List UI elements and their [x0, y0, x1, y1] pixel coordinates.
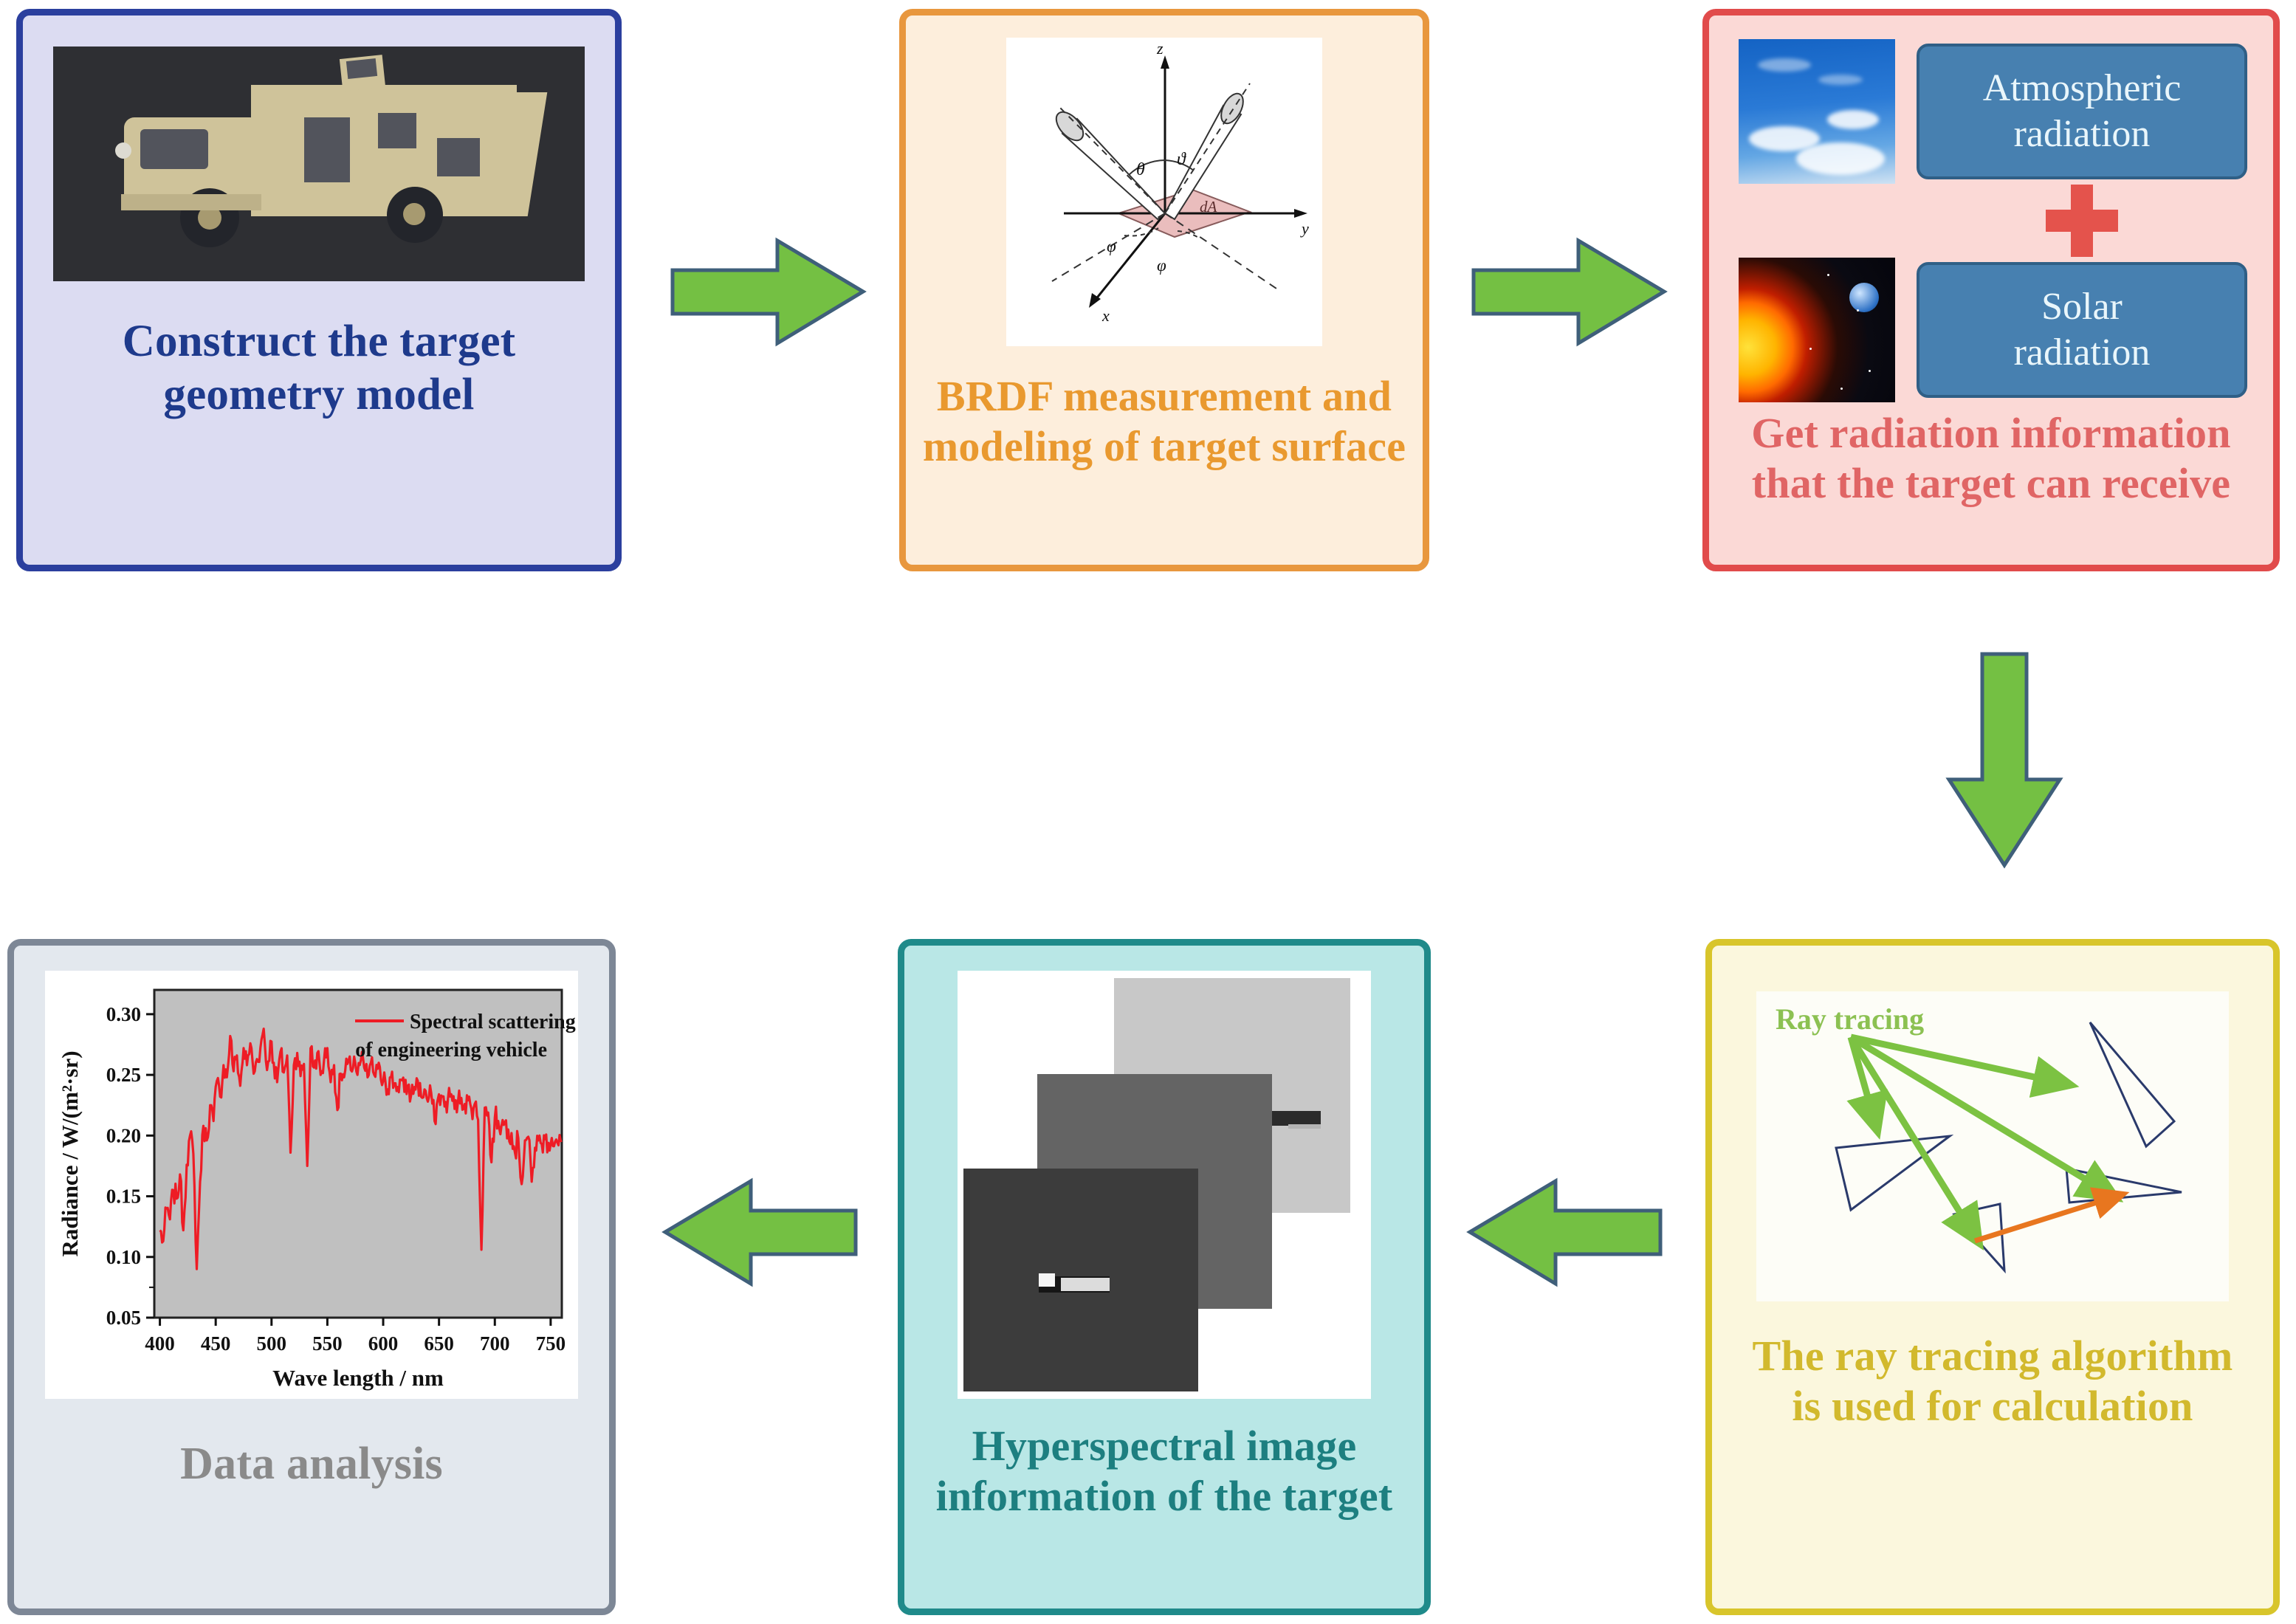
svg-text:φ: φ [1107, 237, 1116, 255]
svg-text:700: 700 [480, 1332, 510, 1355]
svg-text:750: 750 [536, 1332, 566, 1355]
svg-text:y: y [1300, 219, 1309, 238]
step-caption-radiation: Get radiation informationthat the target… [1709, 408, 2273, 509]
hyperspectral-band-stack [958, 971, 1371, 1399]
svg-text:0.20: 0.20 [106, 1124, 141, 1146]
arrow-hyperspectral-to-data-analysis [661, 1175, 860, 1290]
svg-text:Wave length / nm: Wave length / nm [272, 1365, 444, 1391]
svg-text:600: 600 [368, 1332, 399, 1355]
spectral-scattering-plot: 0.050.100.150.200.250.304004505005506006… [45, 971, 578, 1399]
svg-text:φ: φ [1157, 256, 1166, 275]
solar-radiation-box[interactable]: Solarradiation [1917, 262, 2247, 398]
svg-text:Radiance / W/(m²·sr): Radiance / W/(m²·sr) [57, 1050, 83, 1256]
ray-tracing-triangles-diagram: Ray tracing [1756, 991, 2229, 1301]
svg-text:0.25: 0.25 [106, 1064, 141, 1086]
arrow-brdf-to-radiation [1469, 235, 1668, 349]
svg-text:z: z [1156, 39, 1164, 58]
radiation-sources-grid: Atmosphericradiation Solarradiation [1736, 38, 2246, 404]
svg-text:650: 650 [424, 1332, 454, 1355]
svg-text:450: 450 [201, 1332, 231, 1355]
svg-text:0.10: 0.10 [106, 1246, 141, 1268]
atmospheric-radiation-box[interactable]: Atmosphericradiation [1917, 44, 2247, 179]
sun-and-earth-photo [1739, 258, 1895, 402]
step-caption-geometry: Construct the targetgeometry model [23, 315, 615, 422]
blue-sky-photo [1739, 39, 1895, 184]
svg-text:x: x [1101, 306, 1110, 325]
arrow-ray-tracing-to-hyperspectral [1465, 1175, 1665, 1290]
spectral-chart-svg: 0.050.100.150.200.250.304004505005506006… [45, 971, 578, 1399]
svg-text:0.05: 0.05 [106, 1307, 141, 1329]
hyperspectral-band-dark [963, 1169, 1198, 1391]
engineering-vehicle-3d-model [53, 47, 585, 281]
flowchart-canvas: Construct the targetgeometry model [0, 0, 2296, 1624]
step-caption-brdf: BRDF measurement andmodeling of target s… [906, 371, 1423, 472]
svg-text:0.15: 0.15 [106, 1186, 141, 1208]
arrow-geometry-to-brdf [668, 235, 867, 349]
step-card-ray-tracing[interactable]: Ray tracing [1705, 939, 2280, 1615]
svg-text:θ: θ [1136, 160, 1145, 179]
step-caption-hyperspectral: Hyperspectral imageinformation of the ta… [904, 1421, 1424, 1522]
svg-text:500: 500 [257, 1332, 287, 1355]
svg-text:of engineering vehicle: of engineering vehicle [355, 1039, 547, 1062]
svg-text:400: 400 [145, 1332, 175, 1355]
step-card-hyperspectral[interactable]: Hyperspectral imageinformation of the ta… [898, 939, 1431, 1615]
svg-text:Spectral scattering curve: Spectral scattering curve [410, 1011, 578, 1033]
ray-tracing-inner-label: Ray tracing [1776, 1002, 1924, 1036]
brdf-geometry-diagram: z y x dA θ ϑ φ φ [1006, 38, 1322, 346]
step-card-brdf[interactable]: z y x dA θ ϑ φ φ BRDF measurement andmod… [899, 9, 1429, 571]
step-card-data-analysis[interactable]: 0.050.100.150.200.250.304004505005506006… [7, 939, 616, 1615]
step-caption-data-analysis: Data analysis [14, 1437, 609, 1491]
svg-text:dA: dA [1200, 198, 1217, 216]
step-caption-ray-tracing: The ray tracing algorithmis used for cal… [1712, 1331, 2273, 1432]
svg-text:550: 550 [312, 1332, 343, 1355]
plus-icon [2046, 185, 2118, 257]
svg-text:0.30: 0.30 [106, 1003, 141, 1025]
svg-text:ϑ: ϑ [1177, 150, 1186, 169]
step-card-radiation[interactable]: Atmosphericradiation Solarradiation Get … [1702, 9, 2280, 571]
arrow-radiation-to-ray-tracing [1942, 650, 2067, 871]
step-card-geometry[interactable]: Construct the targetgeometry model [16, 9, 622, 571]
